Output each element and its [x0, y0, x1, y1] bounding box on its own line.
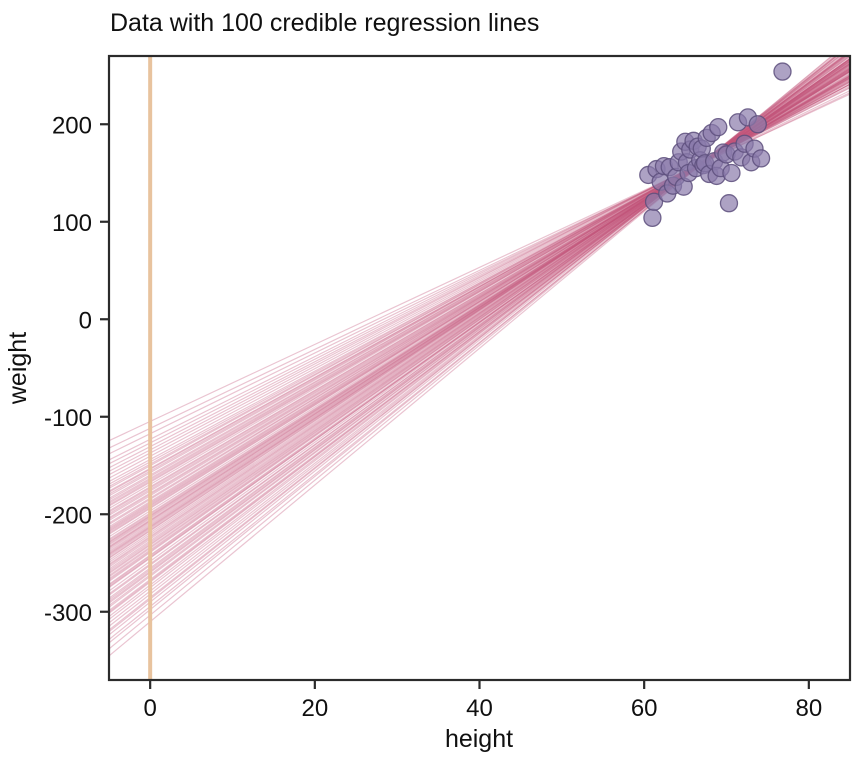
x-axis-label: height [445, 725, 513, 753]
data-point [723, 164, 740, 181]
x-tick-label: 0 [143, 695, 156, 722]
chart-title: Data with 100 credible regression lines [110, 9, 539, 37]
data-point [644, 209, 661, 226]
data-point [749, 116, 766, 133]
y-tick-label: -300 [44, 600, 92, 627]
y-tick-label: 200 [52, 112, 92, 139]
x-tick-label: 40 [466, 695, 493, 722]
regression-chart: Data with 100 credible regression lines … [0, 0, 864, 768]
data-point [720, 195, 737, 212]
y-tick-label: -200 [44, 502, 92, 529]
y-tick-label: 100 [52, 210, 92, 237]
x-tick-label: 60 [631, 695, 658, 722]
y-tick-label: 0 [79, 307, 92, 334]
chart-figure: Data with 100 credible regression lines … [0, 0, 864, 768]
x-tick-label: 20 [301, 695, 328, 722]
data-point [774, 63, 791, 80]
data-point [710, 119, 727, 136]
y-axis-label: weight [4, 332, 32, 405]
x-tick-label: 80 [795, 695, 822, 722]
data-point [753, 150, 770, 167]
y-tick-label: -100 [44, 405, 92, 432]
